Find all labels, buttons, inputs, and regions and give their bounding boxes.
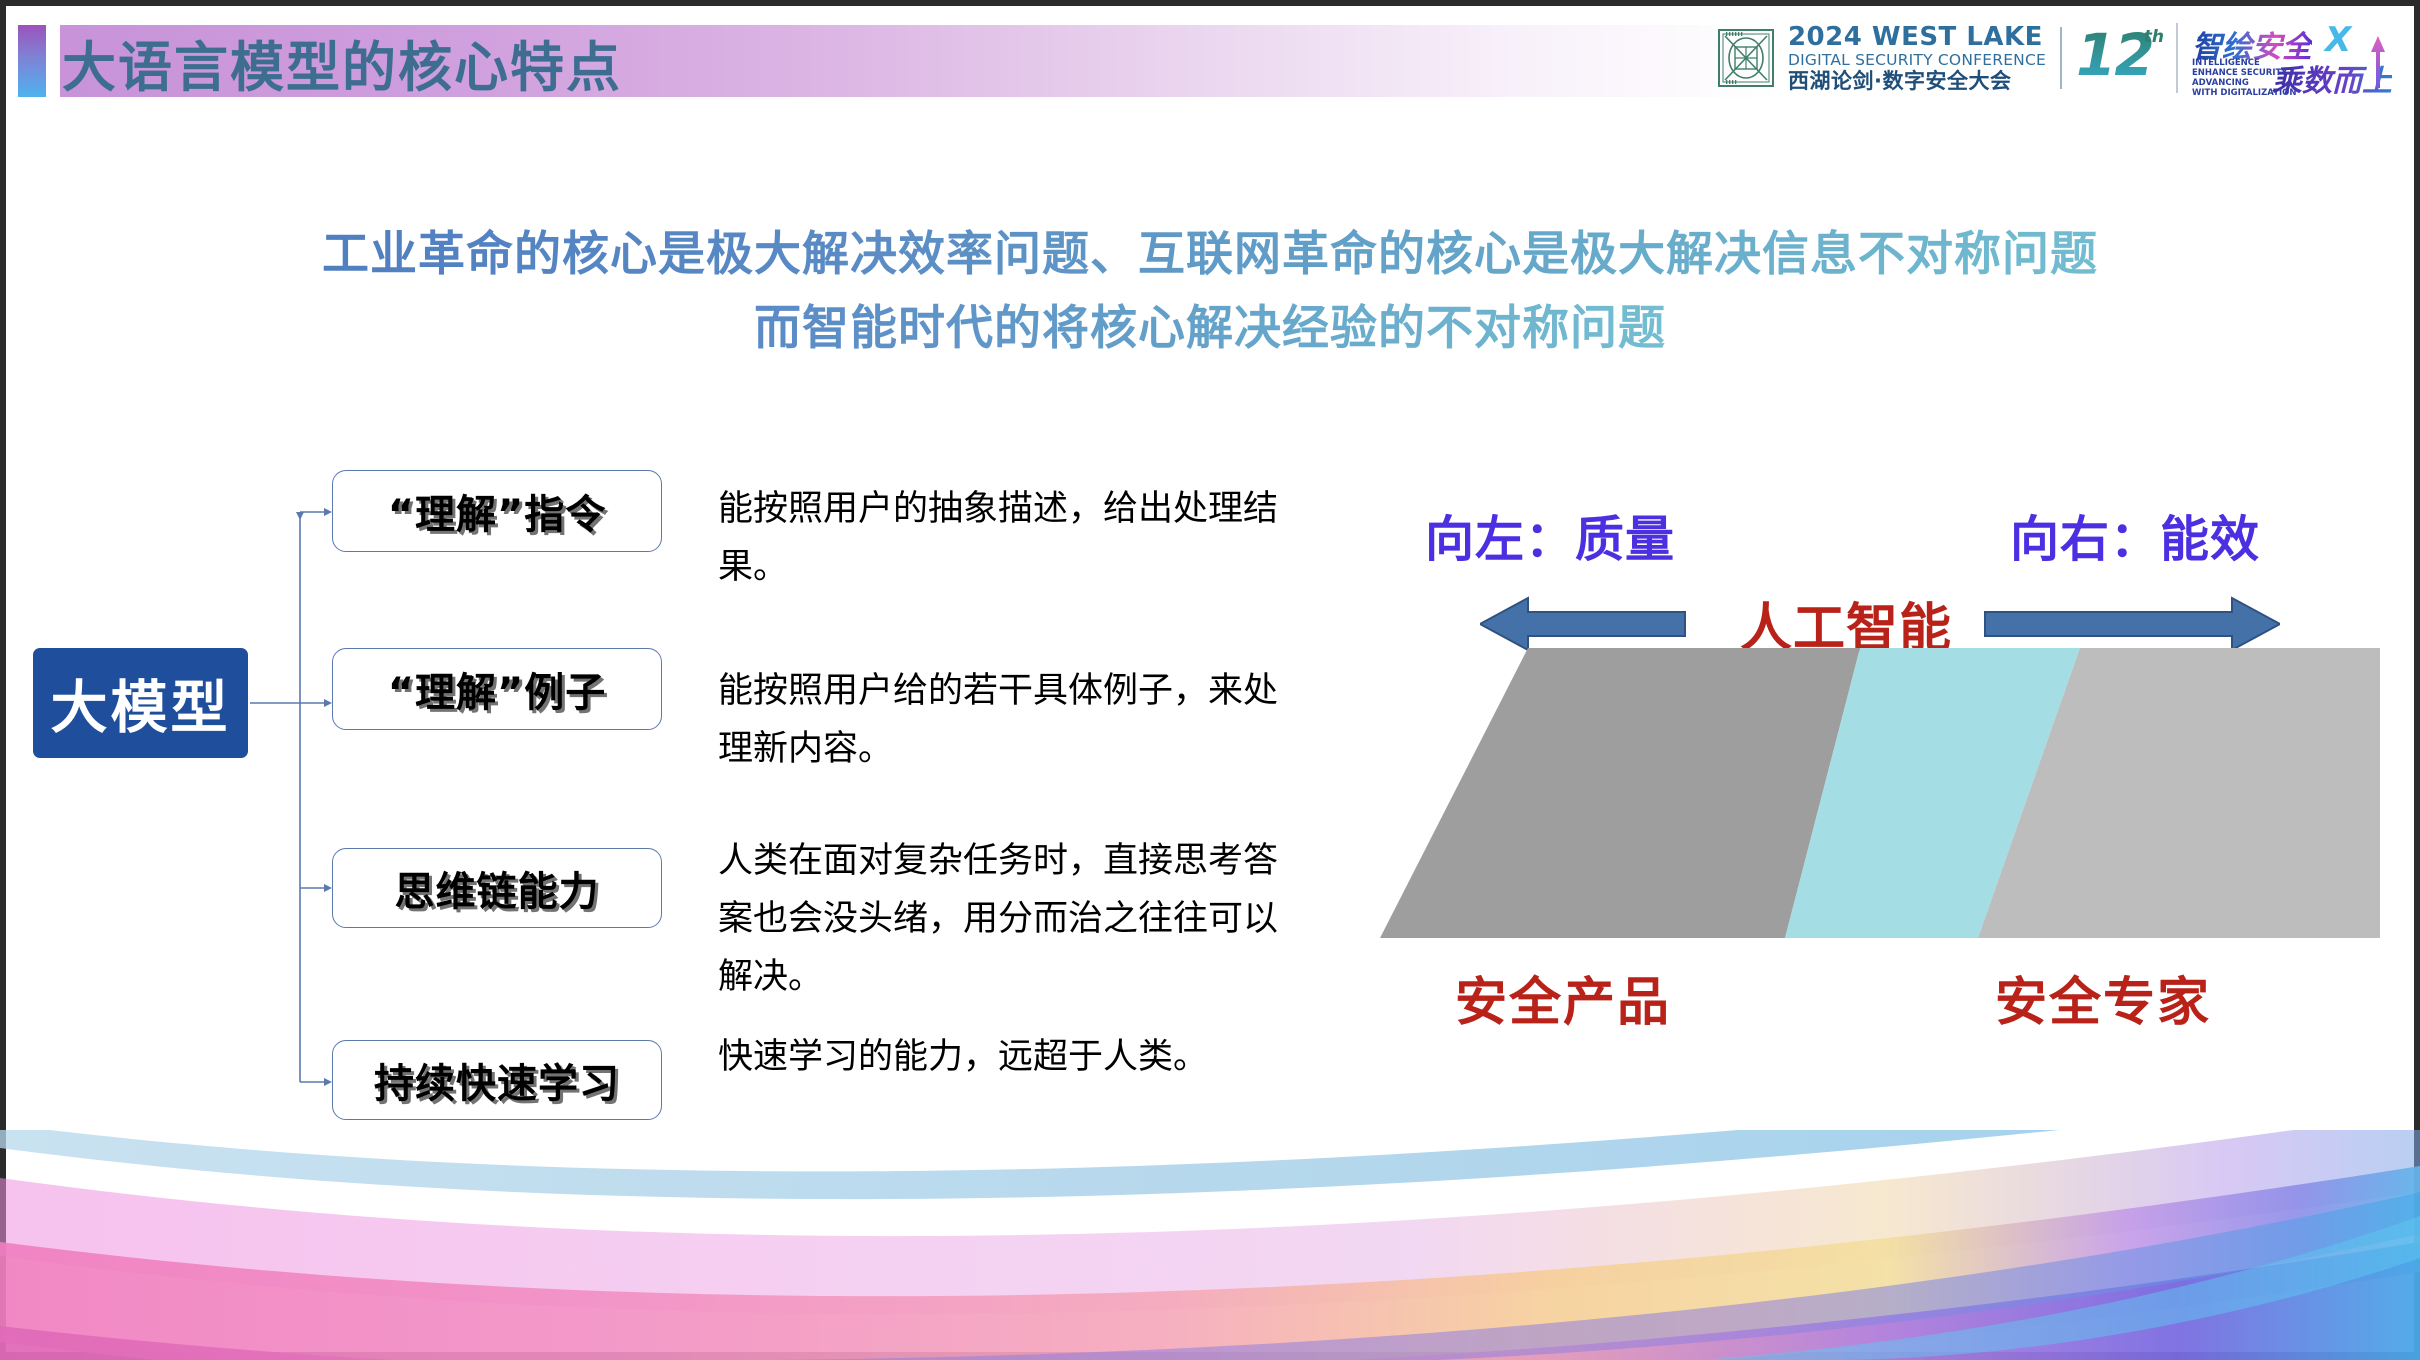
spectrum-right-label: 向右：能效: [2010, 500, 2260, 571]
title-accent-bar: [18, 25, 46, 97]
logo-divider-2: [2176, 23, 2178, 93]
upward-arrow-icon: [2370, 36, 2386, 88]
left-arrow-icon: [1480, 598, 1685, 650]
trapezoid-left-region: [1380, 648, 1860, 938]
decorative-wave-footer: [0, 1130, 2420, 1360]
feature-description-3: 人类在面对复杂任务时，直接思考答案也会没头绪，用分而治之往往可以解决。: [718, 832, 1278, 1006]
spectrum-bottom-left-label: 安全产品: [1455, 960, 1671, 1035]
slogan-logo: 智绘安全 X INTELLIGENCEENHANCE SECURITYADVAN…: [2192, 20, 2392, 96]
headline-line-2: 而智能时代的将核心解决经验的不对称问题: [754, 292, 1666, 366]
root-node-big-model: 大模型: [33, 648, 248, 758]
feature-box-1: “理解”指令: [332, 470, 662, 552]
headline-block: 工业革命的核心是极大解决效率问题、互联网革命的核心是极大解决信息不对称问题 而智…: [0, 218, 2420, 366]
frame-top-border: [0, 0, 2420, 6]
feature-box-4: 持续快速学习: [332, 1040, 662, 1120]
headline-line-1: 工业革命的核心是极大解决效率问题、互联网革命的核心是极大解决信息不对称问题: [322, 218, 2098, 292]
logo-line-1: 2024 WEST LAKE: [1788, 24, 2046, 50]
slide-canvas: 大语言模型的核心特点 2024 WEST LAKE DIGITAL SECURI…: [0, 0, 2420, 1360]
edition-badge: 12 th: [2076, 25, 2162, 91]
spectrum-bottom-right-label: 安全专家: [1995, 960, 2211, 1035]
logo-line-3: 西湖论剑·数字安全大会: [1788, 71, 2046, 92]
right-arrow-icon: [1985, 598, 2280, 650]
feature-description-2: 能按照用户给的若干具体例子，来处理新内容。: [718, 662, 1278, 778]
spectrum-trapezoid-diagram: [1380, 648, 2380, 938]
slogan-x-mark: X: [2325, 20, 2351, 60]
page-title: 大语言模型的核心特点: [62, 26, 622, 98]
spectrum-left-label: 向左：质量: [1425, 500, 1675, 571]
feature-box-2: “理解”例子: [332, 648, 662, 730]
conference-logo: 2024 WEST LAKE DIGITAL SECURITY CONFEREN…: [1718, 18, 2392, 98]
logo-divider-1: [2060, 27, 2062, 89]
logo-line-2: DIGITAL SECURITY CONFERENCE: [1788, 53, 2046, 69]
feature-description-1: 能按照用户的抽象描述，给出处理结果。: [718, 480, 1278, 596]
feature-description-4: 快速学习的能力，远超于人类。: [718, 1028, 1278, 1086]
feature-box-3: 思维链能力: [332, 848, 662, 928]
west-lake-seal-icon: [1718, 29, 1774, 87]
conference-name-block: 2024 WEST LAKE DIGITAL SECURITY CONFEREN…: [1788, 24, 2046, 93]
edition-ordinal: th: [2144, 27, 2164, 47]
